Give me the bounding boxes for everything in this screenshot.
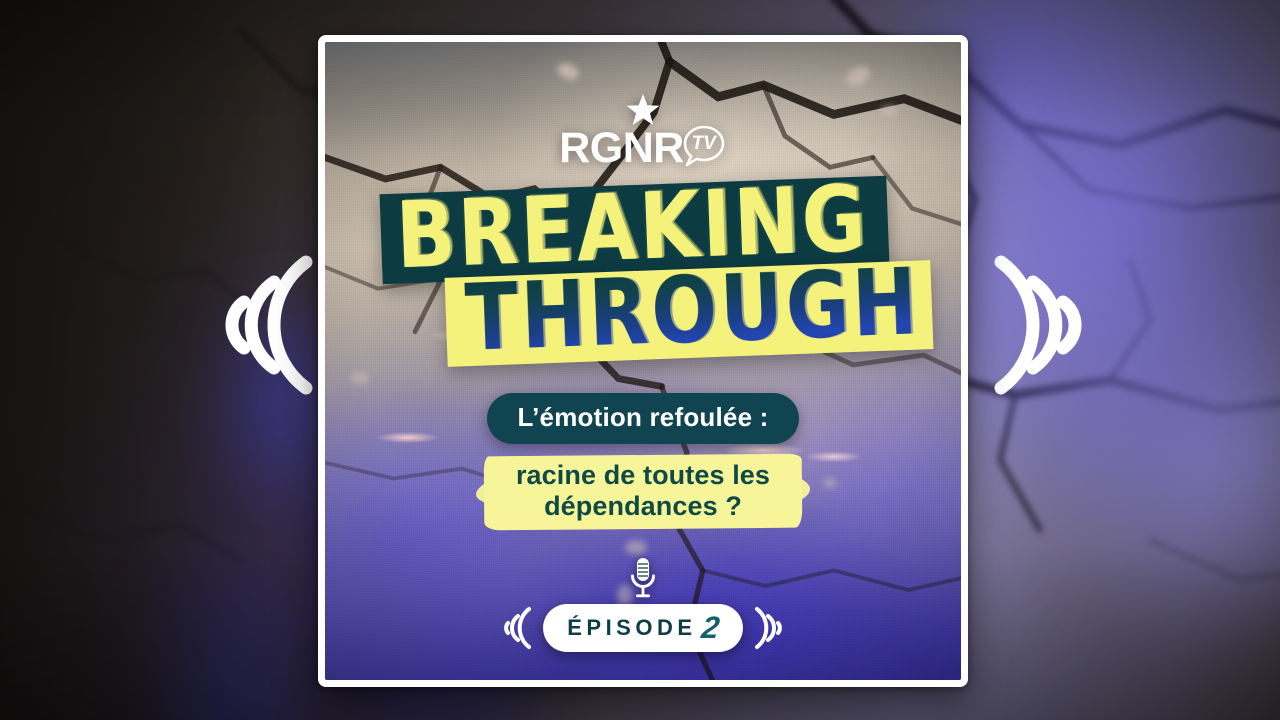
cover-title: BREAKING THROUGH <box>325 185 961 359</box>
cover-content: RGNR TV BREAKING THROUGH <box>325 42 961 680</box>
brand-tv-badge: TV <box>681 125 727 171</box>
title-line2-text: THROUGH <box>464 259 922 363</box>
episode-pill: ÉPISODE 2 <box>543 604 743 652</box>
episode-number: 2 <box>699 612 721 643</box>
brand-logo: RGNR TV <box>559 94 727 171</box>
sound-wave-left-svg <box>222 240 322 410</box>
microphone-icon <box>626 556 660 600</box>
sound-wave-icon-left <box>222 240 322 410</box>
cover-artwork: RGNR TV BREAKING THROUGH <box>325 42 961 680</box>
brand-wordmark-row: RGNR TV <box>559 127 727 171</box>
subtitle-line-2: dépendances ? <box>516 491 770 522</box>
subtitle-line-1: racine de toutes les <box>516 460 770 491</box>
episode-label: ÉPISODE <box>567 615 696 641</box>
cover-subtitle: L’émotion refoulée : racine de toutes le… <box>325 393 961 533</box>
sound-wave-icon-right <box>985 240 1085 410</box>
star-icon <box>626 94 660 126</box>
sound-wave-icon-episode-right <box>750 602 786 654</box>
sound-wave-icon-episode-left <box>500 602 536 654</box>
episode-row: ÉPISODE 2 <box>500 602 786 654</box>
podcast-cover-card: RGNR TV BREAKING THROUGH <box>318 35 968 687</box>
episode-badge: ÉPISODE 2 <box>325 556 961 654</box>
sound-wave-right-svg <box>985 240 1085 410</box>
subtitle-highlight: racine de toutes les dépendances ? <box>490 453 796 533</box>
title-line2-slab: THROUGH <box>445 260 934 367</box>
brand-wordmark-text: RGNR <box>559 127 684 170</box>
brand-tv-text: TV <box>681 134 727 153</box>
subtitle-pill: L’émotion refoulée : <box>487 393 798 444</box>
